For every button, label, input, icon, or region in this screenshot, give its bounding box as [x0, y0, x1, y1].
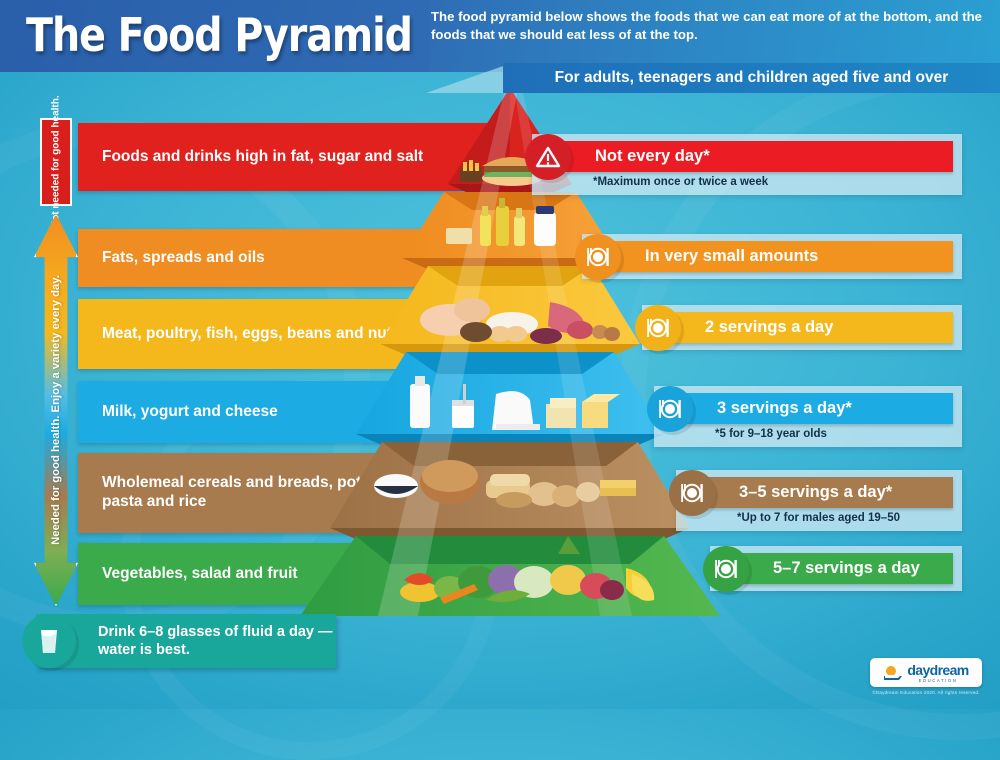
serving-panel-fats-spreads-oils: In very small amounts	[582, 234, 962, 279]
logo-box: daydream EDUCATION	[870, 658, 982, 687]
serving-bar: 5–7 servings a day	[719, 553, 953, 584]
logo-tagline: EDUCATION	[907, 678, 968, 683]
fluid-advice-label: Drink 6–8 glasses of fluid a day — water…	[98, 623, 336, 659]
food-pyramid-poster: The Food Pyramid The food pyramid below …	[0, 0, 1000, 709]
serving-bar: 3–5 servings a day*	[685, 477, 953, 508]
serving-bar: 2 servings a day	[651, 312, 953, 343]
sun-book-icon	[883, 665, 903, 681]
water-glass-icon	[22, 614, 76, 668]
plate-cutlery-icon	[703, 546, 749, 592]
serving-panel-meat-poultry-fish: 2 servings a day	[642, 305, 962, 350]
copyright-text: ©Daydream Education 2020. All rights res…	[870, 690, 982, 695]
plate-cutlery-icon	[669, 470, 715, 516]
plate-cutlery-icon	[635, 305, 681, 351]
serving-panel-vegetables-fruit: 5–7 servings a day	[710, 546, 962, 591]
logo-name: daydream	[907, 662, 968, 678]
serving-panel-fats-sugar-salt: Not every day* *Maximum once or twice a …	[532, 134, 962, 195]
plate-cutlery-icon	[647, 386, 693, 432]
serving-note: *Maximum once or twice a week	[593, 176, 953, 188]
not-needed-tab-label: Not needed for good health.	[50, 96, 62, 229]
serving-label: 5–7 servings a day	[773, 559, 920, 578]
serving-label: In very small amounts	[645, 247, 818, 266]
tier-band-label: Fats, spreads and oils	[102, 249, 265, 268]
plate-cutlery-icon	[575, 234, 621, 280]
serving-panel-cereals-breads: 3–5 servings a day* *Up to 7 for males a…	[676, 470, 962, 531]
brand-logo[interactable]: daydream EDUCATION ©Daydream Education 2…	[870, 658, 982, 695]
serving-panel-milk-yogurt-cheese: 3 servings a day* *5 for 9–18 year olds	[654, 386, 962, 447]
tier-band-label: Milk, yogurt and cheese	[102, 403, 278, 422]
serving-note: *5 for 9–18 year olds	[715, 428, 953, 440]
tier-band-label: Vegetables, salad and fruit	[102, 565, 298, 584]
audience-ribbon-label: For adults, teenagers and children aged …	[555, 69, 949, 87]
serving-label: 2 servings a day	[705, 318, 833, 337]
serving-note: *Up to 7 for males aged 19–50	[737, 512, 953, 524]
audience-ribbon: For adults, teenagers and children aged …	[503, 63, 1000, 93]
serving-label: Not every day*	[595, 147, 710, 166]
serving-bar: In very small amounts	[591, 241, 953, 272]
page-title: The Food Pyramid	[26, 8, 412, 62]
fluid-advice-banner: Drink 6–8 glasses of fluid a day — water…	[36, 614, 336, 668]
not-needed-tab: Not needed for good health.	[40, 118, 72, 206]
serving-label: 3 servings a day*	[717, 399, 852, 418]
serving-label: 3–5 servings a day*	[739, 483, 892, 502]
intro-text: The food pyramid below shows the foods t…	[431, 8, 993, 43]
warning-triangle-icon	[525, 134, 571, 180]
variety-arrow: Needed for good health. Enjoy a variety …	[34, 214, 78, 606]
variety-arrow-label: Needed for good health. Enjoy a variety …	[50, 275, 62, 545]
serving-bar: Not every day*	[541, 141, 953, 172]
serving-bar: 3 servings a day*	[663, 393, 953, 424]
